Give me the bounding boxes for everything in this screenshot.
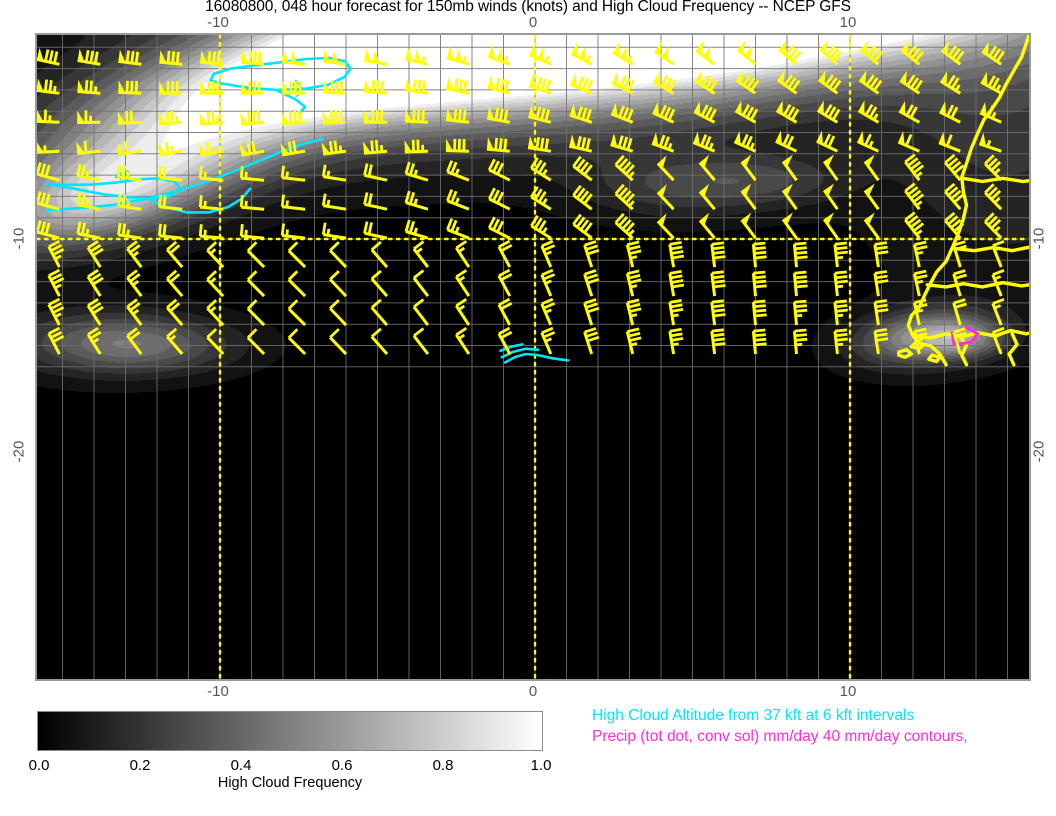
wind-barb [364,79,387,93]
wind-barb [365,193,388,210]
wind-barb [905,184,923,210]
wind-barb [405,140,428,152]
wind-barb [330,271,346,296]
plot-frame: 433737 [35,33,1031,681]
wind-barb [489,159,510,180]
wind-barb [712,243,726,267]
wind-barb [37,221,59,239]
wind-barb [127,328,141,354]
wind-barb [945,184,963,209]
wind-barb [323,165,346,180]
wind-barb [118,50,141,65]
plot-overlays: 433737 [37,35,1029,679]
cloud-altitude-contour [148,189,250,213]
colorbar-tick-4: 0.8 [433,757,454,774]
wind-barb [447,190,469,210]
wind-barb [820,40,841,64]
legend-cloud-altitude: High Cloud Altitude from 37 kft at 6 kft… [592,707,914,725]
wind-barb [794,272,807,296]
wind-barb [323,111,347,124]
wind-barb [905,155,923,181]
colorbar [37,711,543,751]
wind-barb [982,42,1004,65]
wind-barb [364,110,387,122]
wind-barb [88,241,103,267]
wind-barb [330,300,346,325]
wind-barb [364,48,387,64]
wind-barb [901,41,923,65]
wind-barb [37,79,59,94]
wind-barb [127,271,141,297]
wind-barb [865,155,879,181]
wind-barb [940,101,961,122]
wind-barb [985,213,1001,238]
wind-barb [915,329,928,354]
wind-barb [248,271,264,296]
wind-barb [954,300,967,326]
legend-precip: Precip (tot dot, conv sol) mm/day 40 mm/… [592,728,968,746]
wind-barb [542,270,555,296]
wind-barb [289,242,305,267]
wind-barb [783,155,796,181]
wind-barb [77,80,100,94]
wind-barb [446,108,469,123]
wind-barb [456,328,469,354]
wind-barb [323,223,346,238]
wind-barb [363,140,387,153]
wind-barb [939,132,960,152]
wind-barb [616,185,634,209]
wind-barb [571,43,591,64]
wind-barb [499,241,512,267]
wind-barb [372,242,387,267]
wind-barb [489,188,510,209]
tick-y-right-2: -20 [1030,441,1047,463]
wind-barb [167,271,182,296]
wind-barb [365,164,388,181]
wind-barb [573,157,591,181]
coastline [899,350,912,357]
wind-barb [49,328,64,354]
coastline [960,337,966,365]
colorbar-tick-1: 0.2 [130,757,151,774]
wind-barb [742,155,756,181]
wind-barb [78,49,101,65]
tick-y-left-2: -20 [10,441,27,463]
wind-barb [159,166,182,180]
wind-barb [905,213,923,239]
wind-barb [322,141,346,155]
wind-barb [993,241,1004,267]
wind-barb [573,186,591,210]
wind-barb [735,131,756,151]
wind-barb [372,300,387,325]
wind-barb [289,271,305,296]
wind-barb [372,329,387,354]
wind-barb [456,241,469,267]
wind-barb [835,301,848,325]
tick-y-left-1: -10 [10,228,27,250]
wind-barb [158,111,182,124]
wind-barb [447,46,469,64]
wind-barb [414,329,428,355]
wind-barb [742,213,756,239]
wind-barb [658,155,674,180]
wind-barb [414,242,428,268]
wind-barb [712,330,726,354]
wind-barb [76,141,100,154]
wind-barb [835,330,848,354]
coastline [963,178,1029,181]
wind-barb [542,241,555,267]
wind-barb [585,328,599,354]
wind-barb [282,224,305,239]
wind-barb [569,134,591,151]
colorbar-tick-5: 1.0 [531,757,552,774]
wind-barb [487,137,510,151]
wind-barb [529,105,551,122]
wind-barb [985,155,1001,180]
wind-barb [248,329,264,354]
wind-barb [414,271,428,297]
colorbar-tick-3: 0.6 [332,757,353,774]
wind-barb [616,156,634,180]
tick-x-top-1: -10 [207,14,229,31]
wind-barb [531,158,551,180]
tick-x-bottom-1: -10 [207,683,229,700]
tick-x-top-2: 0 [529,14,537,31]
wind-barb [670,300,683,325]
wind-barb [240,111,264,125]
wind-barb [159,81,182,93]
wind-barb [78,222,101,238]
wind-barb [330,329,346,354]
wind-barb [289,300,305,325]
wind-barb [794,301,807,325]
wind-barb [117,141,142,154]
wind-barb [670,242,684,267]
wind-barb [159,224,182,238]
wind-barb [119,223,142,238]
tick-x-top-3: 10 [840,14,857,31]
wind-barb [979,132,1001,151]
wind-barb [653,102,674,123]
wind-barb [696,41,714,65]
wind-barb [712,301,726,325]
wind-barb [88,270,103,296]
coastline [908,35,1029,365]
coastline [1009,334,1017,365]
wind-barb [365,222,388,239]
wind-barb [167,329,182,354]
wind-barb [824,212,837,238]
wind-barb [700,155,715,180]
wind-barb [861,40,883,64]
wind-barb [241,50,264,64]
wind-barb [330,242,346,267]
wind-barb [289,329,305,354]
wind-barb [865,213,879,239]
wind-barb [652,132,674,151]
wind-barb [446,77,469,93]
wind-barb [446,139,469,152]
wind-barb [167,242,182,267]
wind-barb [835,243,848,267]
wind-barb [447,161,469,181]
wind-barb [817,131,838,152]
wind-barb [487,106,510,122]
wind-barb [783,213,796,239]
wind-barb [159,50,182,64]
wind-barb [700,213,715,238]
wind-barb [488,76,510,94]
wind-barb [655,41,674,64]
wind-barb [207,300,223,325]
tick-x-bottom-3: 10 [840,683,857,700]
wind-barb [456,270,469,296]
wind-barb [127,242,141,268]
wind-barb [954,242,967,267]
wind-barb [779,40,800,64]
wind-barb [658,213,674,238]
wind-barb [282,50,305,64]
wind-barb [49,241,64,267]
wind-barb [585,271,599,297]
wind-barb [37,192,59,210]
wind-barb [693,131,714,151]
wind-barb [372,271,387,296]
coastline [927,283,1029,287]
wind-barb [248,300,264,325]
wind-barb [118,111,142,124]
wind-barb [248,242,264,267]
wind-barb [49,270,64,296]
wind-barb [712,272,726,296]
wind-barb [824,155,837,181]
wind-barb [499,270,512,296]
wind-barb [776,131,797,152]
colorbar-tick-0: 0.0 [29,757,50,774]
tick-x-bottom-2: 0 [529,683,537,700]
wind-barb [670,271,684,296]
wind-barb [794,330,807,354]
wind-barb [738,41,756,65]
colorbar-tick-2: 0.4 [231,757,252,774]
wind-barb [945,213,963,238]
wind-barb [529,74,551,93]
wind-barb [585,242,599,268]
wind-barb [167,300,182,325]
wind-barb [570,104,592,123]
tick-y-right-1: -10 [1030,228,1047,250]
wind-barb [37,48,59,65]
wind-barb [158,142,183,155]
wind-barb [898,131,919,151]
wind-barb [118,80,141,93]
wind-barb [37,140,59,152]
wind-barb [241,224,264,238]
wind-barb [282,166,305,181]
coastline [929,355,940,361]
wind-barb [528,136,551,152]
wind-barb [489,217,510,238]
wind-barb [942,41,964,64]
wind-barb [447,219,469,239]
wind-barb [915,242,928,267]
plot-area: 433737 [37,35,1029,679]
wind-barb [670,329,683,354]
colorbar-title: High Cloud Frequency [37,775,543,791]
wind-barb [77,110,100,122]
wind-barb [835,272,848,296]
cloud-altitude-contour [505,354,568,363]
wind-barb [542,328,555,354]
wind-barb [488,45,510,64]
wind-barb [37,163,59,181]
wind-barb [858,131,879,152]
wind-barb [794,243,807,267]
wind-barb [78,164,101,180]
